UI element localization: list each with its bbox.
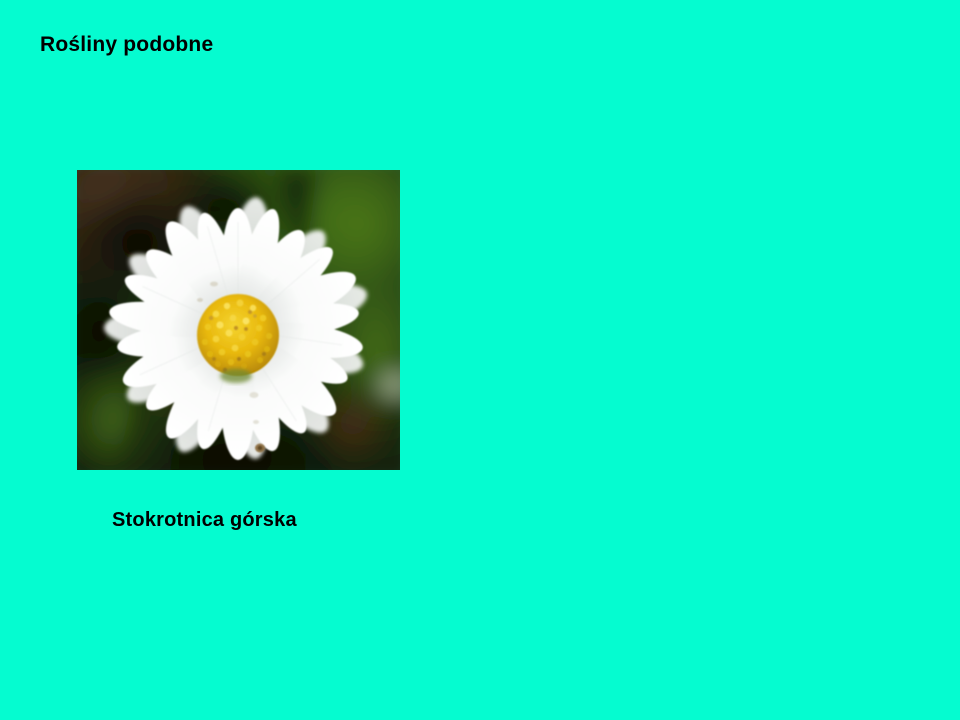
photo-caption: Stokrotnica górska xyxy=(112,509,297,531)
presentation-slide: Rośliny podobne xyxy=(0,0,960,720)
page-title: Rośliny podobne xyxy=(40,33,213,56)
flower-photo-svg xyxy=(77,170,400,470)
flower-photo xyxy=(77,170,400,470)
